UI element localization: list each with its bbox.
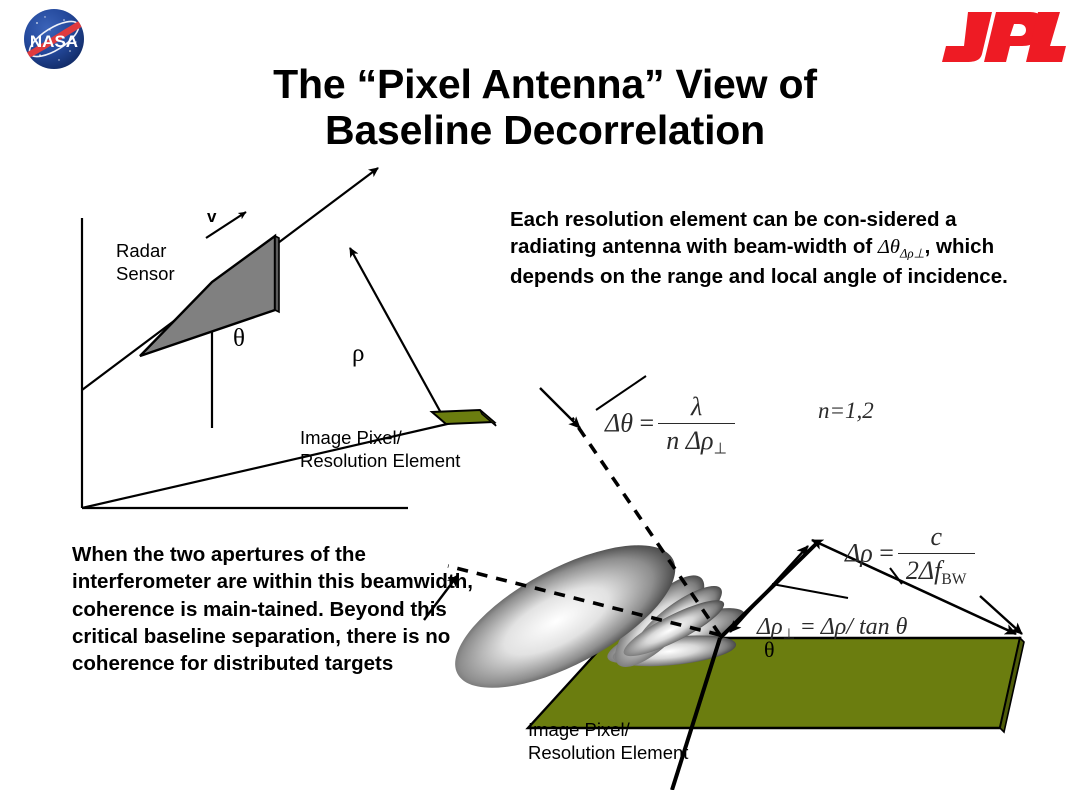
label-velocity: v — [207, 207, 216, 227]
eq-delta-theta-denominator: n Δρ⊥ — [658, 423, 735, 459]
eq-delta-theta-den-perp: ⊥ — [713, 441, 727, 458]
eq-delta-rho-lhs: Δρ — [845, 538, 873, 567]
eq-delta-theta-den-drho: Δρ — [686, 426, 714, 455]
slide-canvas: NASA The “Pixel Antenna” View of Baselin… — [0, 0, 1080, 810]
eq-drp-rhs: Δρ/ tan θ — [821, 614, 908, 640]
eq-delta-theta-equals: = — [640, 408, 655, 437]
nasa-wordmark: NASA — [30, 32, 78, 51]
equation-delta-theta: Δθ =λn Δρ⊥ — [605, 392, 739, 459]
antenna-beam-diagram — [420, 370, 1080, 790]
equation-n-note: n=1,2 — [818, 398, 874, 424]
label-theta-left: θ — [233, 325, 245, 353]
inline-math-delta-theta: ΔθΔρ⊥ — [878, 236, 925, 258]
page-title: The “Pixel Antenna” View of Baseline Dec… — [150, 62, 940, 154]
label-radar-sensor: Radar Sensor — [116, 240, 175, 285]
title-line-2: Baseline Decorrelation — [150, 108, 940, 154]
eq-delta-rho-fraction: c2ΔfBW — [898, 522, 975, 589]
eq-delta-rho-den-sub: BW — [941, 571, 966, 588]
eq-delta-theta-numerator: λ — [658, 392, 735, 423]
paragraph-top-right: Each resolution element can be con-sider… — [510, 206, 1030, 290]
eq-drp-equals: = — [801, 614, 815, 640]
eq-delta-rho-denominator: 2ΔfBW — [898, 553, 975, 589]
label-rho-left: ρ — [352, 340, 364, 368]
title-line-1: The “Pixel Antenna” View of — [150, 62, 940, 108]
eq-delta-rho-numerator: c — [898, 522, 975, 553]
nasa-logo: NASA — [12, 6, 96, 72]
beamwidth-arrow-lower — [424, 575, 458, 620]
equation-delta-rho-perp: Δρ⊥ = Δρ/ tan θ — [757, 614, 907, 643]
eq-delta-theta-fraction: λn Δρ⊥ — [658, 392, 735, 459]
eq-delta-theta-den-n: n — [666, 426, 679, 455]
jpl-logo — [926, 8, 1066, 64]
radar-sensor-edge — [275, 236, 279, 312]
eq-delta-rho-den-main: 2Δf — [906, 556, 941, 585]
label-image-pixel-right: Image Pixel/ Resolution Element — [528, 719, 688, 764]
inline-math-subscript: Δρ⊥ — [900, 247, 925, 261]
equation-delta-rho: Δρ =c2ΔfBW — [845, 522, 979, 589]
eq-delta-rho-equals: = — [879, 538, 894, 567]
eq-drp-lhs-sub: ⊥ — [783, 626, 796, 642]
inline-math-symbol: Δθ — [878, 236, 900, 258]
leader-line-delta-rho-perp — [772, 584, 848, 598]
eq-drp-lhs: Δρ — [757, 614, 783, 640]
beamwidth-arrow-upper — [540, 388, 580, 428]
eq-delta-theta-lhs: Δθ — [605, 408, 633, 437]
